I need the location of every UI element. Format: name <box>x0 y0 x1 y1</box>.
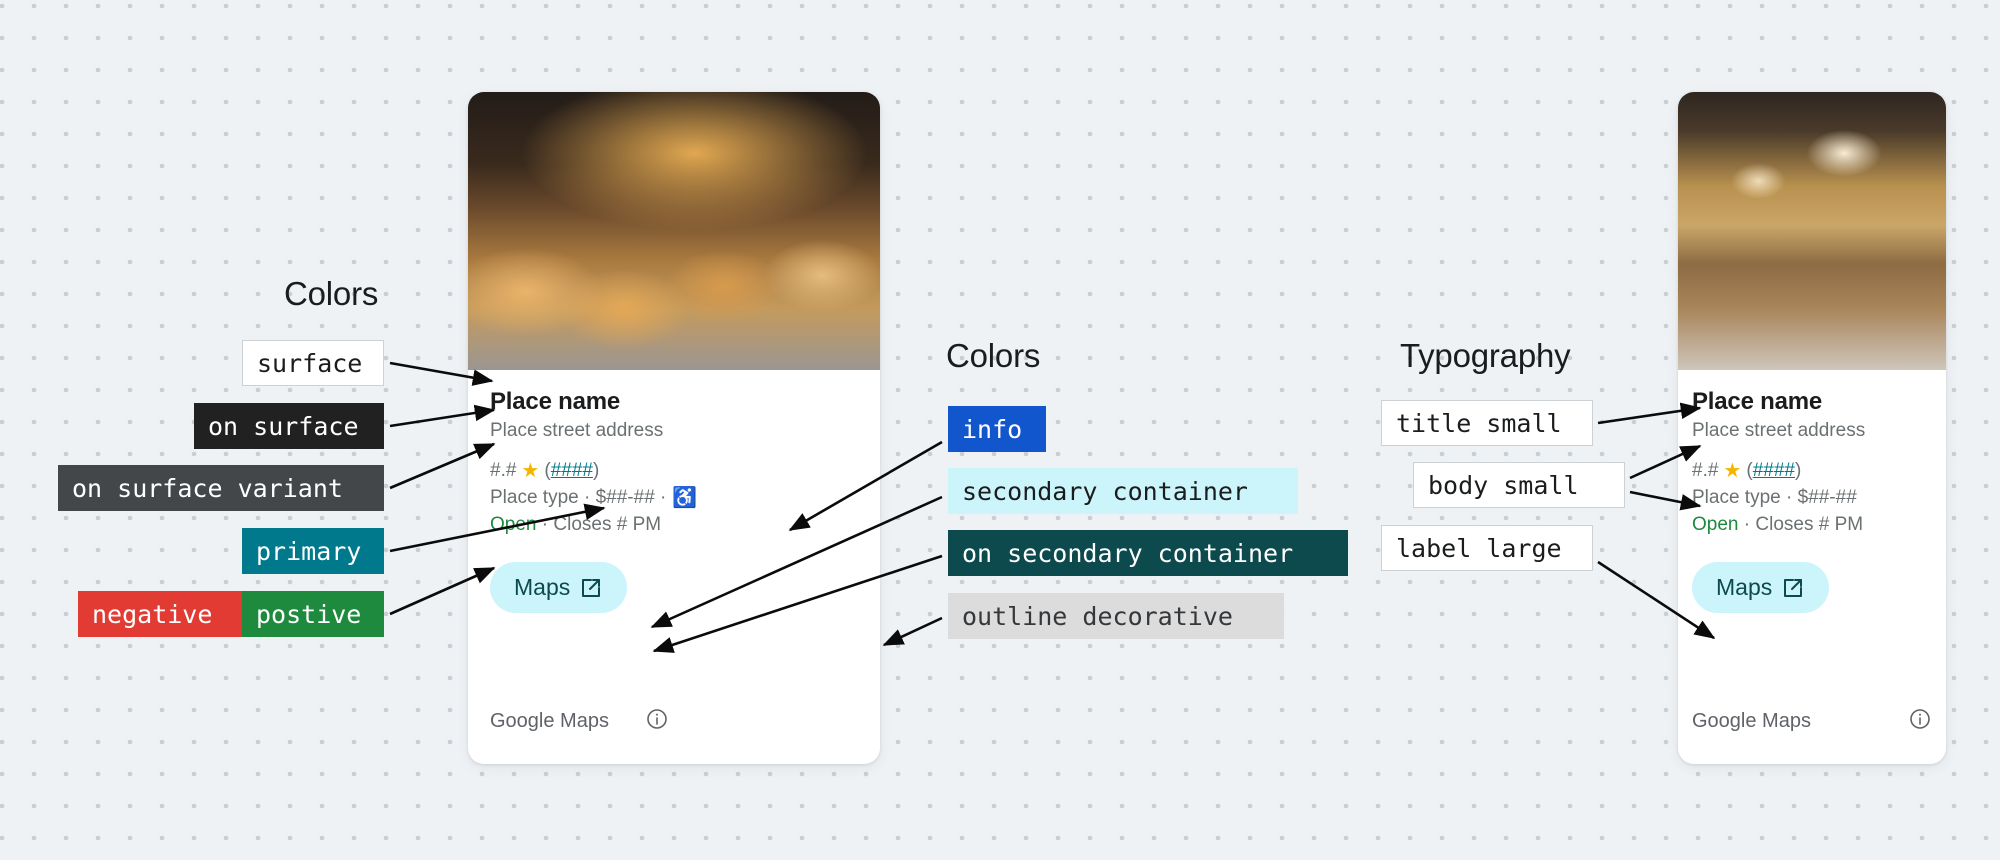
google-maps-attribution: Google Maps <box>490 710 609 733</box>
color-token-surface: surface <box>242 340 384 386</box>
color-token-on-surface: on surface <box>194 403 384 449</box>
status-closes: Closes # PM <box>553 514 661 535</box>
place-name: Place name <box>490 388 858 416</box>
typography-token-label-large: label large <box>1381 525 1593 571</box>
place-hours-row-right: Open · Closes # PM <box>1692 514 1932 536</box>
maps-button-label: Maps <box>514 574 570 601</box>
star-icon: ★ <box>521 461 539 481</box>
color-token-positive: postive <box>242 591 384 637</box>
typography-token-body-small: body small <box>1413 462 1625 508</box>
place-card-hero-image <box>468 92 880 370</box>
place-card-hero-image-right <box>1678 92 1946 370</box>
status-open: Open <box>490 514 536 535</box>
place-address-right: Place street address <box>1692 420 1932 442</box>
status-separator-right: · <box>1738 514 1755 535</box>
star-icon-right: ★ <box>1723 461 1741 481</box>
review-count[interactable]: (####) <box>544 460 599 482</box>
place-type-price-row: Place type · $##-## · ♿ <box>490 487 858 509</box>
maps-button-right[interactable]: Maps <box>1692 562 1829 613</box>
google-maps-attribution-right: Google Maps <box>1692 710 1811 733</box>
place-card-body-right: Place name Place street address #.# ★ (#… <box>1678 370 1946 613</box>
place-type-price: Place type · $##-## · <box>490 487 666 509</box>
place-type-price-right: Place type · $##-## <box>1692 487 1857 509</box>
rating-value: #.# <box>490 460 516 482</box>
color-token-primary: primary <box>242 528 384 574</box>
color-token-negative: negative <box>78 591 242 637</box>
cafe-interior-photo <box>1678 92 1946 370</box>
place-hours-row: Open · Closes # PM <box>490 514 858 536</box>
arrow-outline-decorative <box>884 618 942 645</box>
wheelchair-accessible-icon: ♿ <box>672 488 697 508</box>
place-address: Place street address <box>490 420 858 442</box>
info-circle-icon[interactable] <box>645 707 669 736</box>
section-title-colors-middle: Colors <box>946 337 1040 375</box>
info-circle-icon-right[interactable] <box>1908 707 1932 736</box>
status-open-right: Open <box>1692 514 1738 535</box>
bakery-pastries-photo <box>468 92 880 370</box>
color-token-outline-decorative: outline decorative <box>948 593 1284 639</box>
place-rating-row-right: #.# ★ (####) <box>1692 460 1932 482</box>
rating-value-right: #.# <box>1692 460 1718 482</box>
color-token-info: info <box>948 406 1046 452</box>
external-link-icon <box>579 576 603 600</box>
section-title-typography: Typography <box>1400 337 1570 375</box>
place-card-footer: Google Maps <box>468 707 880 736</box>
place-card-right: Place name Place street address #.# ★ (#… <box>1678 92 1946 764</box>
typography-token-title-small: title small <box>1381 400 1593 446</box>
review-count-right[interactable]: (####) <box>1746 460 1801 482</box>
color-token-on-surface-variant: on surface variant <box>58 465 384 511</box>
color-token-secondary-container: secondary container <box>948 468 1298 514</box>
place-type-price-row-right: Place type · $##-## <box>1692 487 1932 509</box>
external-link-icon-right <box>1781 576 1805 600</box>
section-title-colors-left: Colors <box>284 275 378 313</box>
place-rating-row: #.# ★ (####) <box>490 460 858 482</box>
place-name-right: Place name <box>1692 388 1932 416</box>
place-card-body: Place name Place street address #.# ★ (#… <box>468 370 880 613</box>
annotation-canvas: Colors Colors Typography surface on surf… <box>0 0 2000 860</box>
status-closes-right: Closes # PM <box>1755 514 1863 535</box>
place-card-footer-right: Google Maps <box>1678 707 1946 736</box>
status-separator: · <box>536 514 553 535</box>
maps-button[interactable]: Maps <box>490 562 627 613</box>
maps-button-label-right: Maps <box>1716 574 1772 601</box>
color-token-on-secondary-container: on secondary container <box>948 530 1348 576</box>
place-card-center: Place name Place street address #.# ★ (#… <box>468 92 880 764</box>
